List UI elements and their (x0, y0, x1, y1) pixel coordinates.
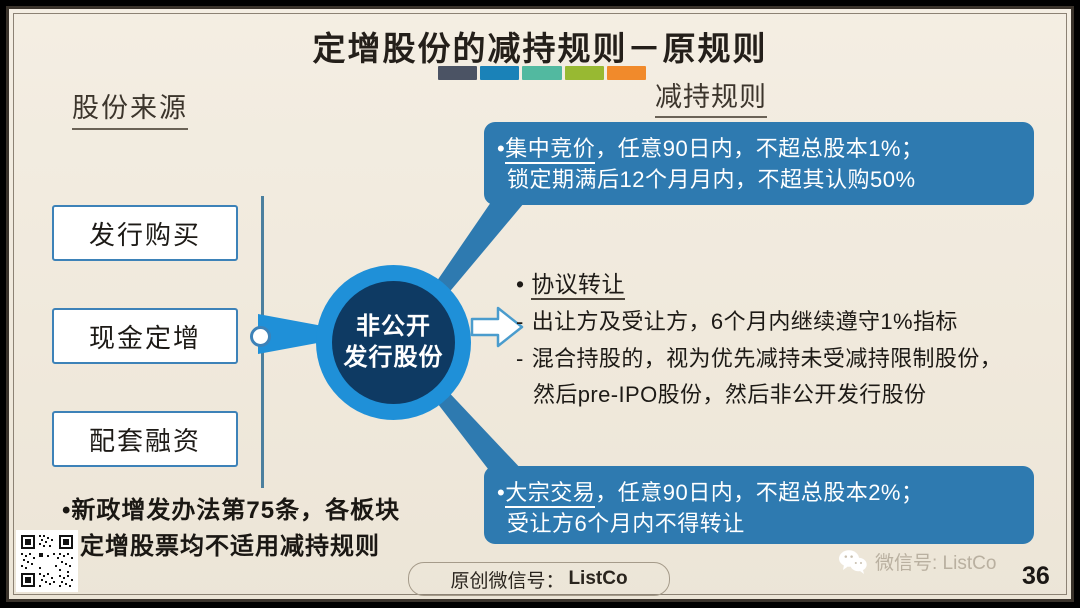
footer-label: 原创微信号： (450, 566, 564, 593)
colorbar-seg-1 (438, 66, 477, 80)
qr-code-icon (16, 530, 78, 592)
source-box-2[interactable]: 现金定增 (52, 308, 238, 364)
callout-bottom-keyword: 大宗交易 (505, 480, 595, 508)
colorbar-seg-4 (565, 66, 604, 80)
middle-item-2-dash: - (516, 343, 524, 375)
edge-right (1074, 0, 1080, 608)
middle-item-1-text: 出让方及受让方，6个月内继续遵守1%指标 (532, 306, 1046, 338)
callout-top-bullet: • (497, 136, 505, 161)
callout-top-line2: 锁定期满后12个月月内，不超其认购50% (497, 164, 1018, 195)
watermark: 微信号: ListCo (838, 548, 996, 575)
source-box-1[interactable]: 发行购买 (52, 205, 238, 261)
footer-value: ListCo (568, 568, 627, 590)
middle-heading: • 协议转让 (516, 268, 1046, 301)
bottom-note: •新政增发办法第75条，各板块 定增股票均不适用减持规则 (62, 493, 482, 565)
colorbar-seg-5 (607, 66, 646, 80)
center-circle: 非公开 发行股份 (332, 281, 455, 404)
callout-top-keyword: 集中竞价 (505, 136, 595, 164)
center-circle-line2: 发行股份 (344, 343, 444, 374)
color-accent-bar (438, 66, 646, 80)
middle-heading-label: 协议转让 (531, 271, 625, 300)
edge-bottom (0, 602, 1080, 608)
bottom-note-line1: •新政增发办法第75条，各板块 (62, 493, 482, 529)
colorbar-seg-2 (480, 66, 519, 80)
callout-top-line1: •集中竞价，任意90日内，不超总股本1%； (497, 133, 1018, 164)
middle-text-block: • 协议转让 - 出让方及受让方，6个月内继续遵守1%指标 - 混合持股的，视为… (516, 268, 1046, 411)
middle-bullet: • (516, 271, 524, 297)
center-circle-line1: 非公开 (356, 312, 431, 343)
callout-bottom-line1: •大宗交易，任意90日内，不超总股本2%； (497, 477, 1018, 508)
page-title: 定增股份的减持规则－原规则 (0, 22, 1080, 70)
source-heading: 股份来源 (72, 86, 188, 130)
callout-top: •集中竞价，任意90日内，不超总股本1%； 锁定期满后12个月月内，不超其认购5… (484, 122, 1034, 205)
bottom-note-line2: 定增股票均不适用减持规则 (62, 529, 482, 565)
middle-item-2: - 混合持股的，视为优先减持未受减持限制股份， (516, 343, 1046, 375)
source-box-3[interactable]: 配套融资 (52, 411, 238, 467)
subtitle: 减持规则 (655, 75, 767, 118)
page-number: 36 (1022, 562, 1050, 591)
callout-bottom-line1-rest: ，任意90日内，不超总股本2%； (595, 480, 923, 505)
wechat-icon (838, 549, 868, 575)
middle-item-1: - 出让方及受让方，6个月内继续遵守1%指标 (516, 306, 1046, 338)
colorbar-seg-3 (522, 66, 561, 80)
watermark-text: 微信号: ListCo (875, 548, 996, 575)
middle-item-2-text: 混合持股的，视为优先减持未受减持限制股份， (532, 343, 1046, 375)
edge-left (0, 0, 6, 608)
connector-node (250, 326, 271, 347)
callout-bottom: •大宗交易，任意90日内，不超总股本2%； 受让方6个月内不得转让 (484, 466, 1034, 544)
edge-top (0, 0, 1080, 6)
middle-item-3-text: 然后pre-IPO股份，然后非公开发行股份 (533, 379, 1046, 411)
callout-bottom-bullet: • (497, 480, 505, 505)
middle-item-1-dash: - (516, 306, 524, 338)
callout-top-line1-rest: ，任意90日内，不超总股本1%； (595, 136, 923, 161)
middle-item-3: 然后pre-IPO股份，然后非公开发行股份 (516, 379, 1046, 411)
callout-bottom-line2: 受让方6个月内不得转让 (497, 508, 1018, 539)
footer-credit: 原创微信号： ListCo (408, 562, 670, 596)
slide-canvas: 定增股份的减持规则－原规则 减持规则 股份来源 发行购买 现金定增 配套融资 非… (0, 0, 1080, 608)
